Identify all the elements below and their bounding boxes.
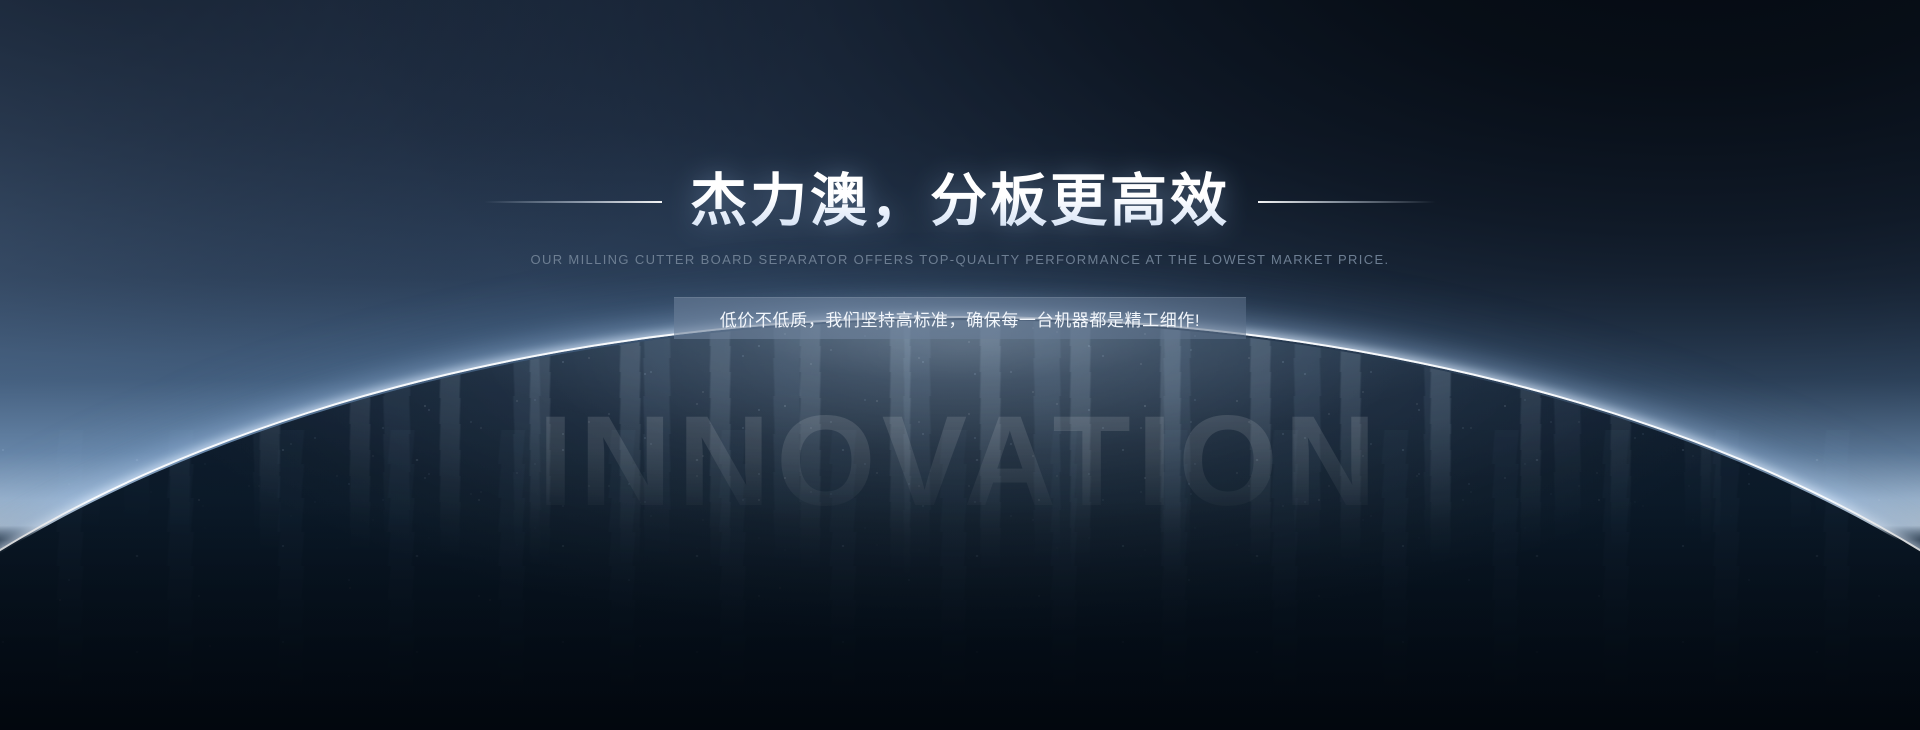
headline-rule-right-icon (1258, 201, 1436, 203)
hero-banner: INNOVATION 杰力澳，分板更高效 OUR MILLING CUTTER … (0, 0, 1920, 730)
banner-tagline: 低价不低质，我们坚持高标准，确保每一台机器都是精工细作! (674, 297, 1246, 339)
banner-headline: 杰力澳，分板更高效 (690, 168, 1230, 235)
banner-content: 杰力澳，分板更高效 OUR MILLING CUTTER BOARD SEPAR… (0, 0, 1920, 730)
tagline-container: 低价不低质，我们坚持高标准，确保每一台机器都是精工细作! (0, 297, 1920, 339)
banner-subtitle: OUR MILLING CUTTER BOARD SEPARATOR OFFER… (0, 252, 1920, 267)
headline-rule-left-icon (484, 201, 662, 203)
